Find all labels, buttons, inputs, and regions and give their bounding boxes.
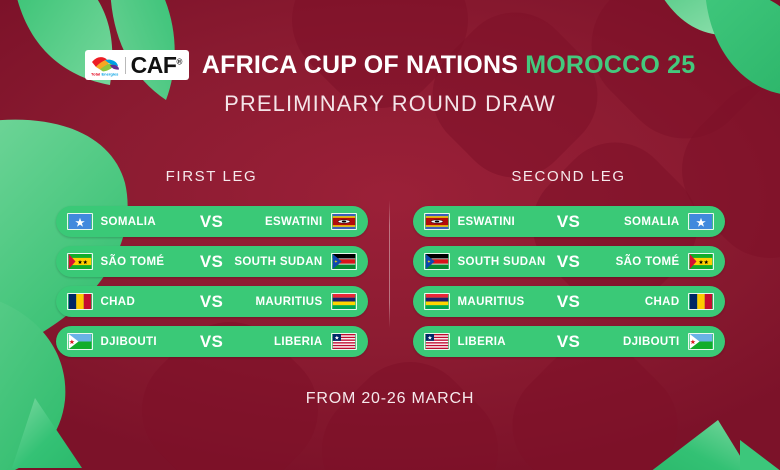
match-row[interactable]: SOUTH SUDAN VS SÃO TOMÉ	[413, 246, 725, 277]
page-subtitle: PRELIMINARY ROUND DRAW	[224, 91, 556, 117]
vs-label: VS	[194, 252, 229, 272]
match-away: MAURITIUS	[229, 293, 356, 310]
match-home: LIBERIA	[424, 333, 551, 350]
match-home: CHAD	[67, 293, 194, 310]
vs-label: VS	[551, 292, 586, 312]
match-away: CHAD	[586, 293, 713, 310]
match-home: SÃO TOMÉ	[67, 253, 194, 270]
match-home: DJIBOUTI	[67, 333, 194, 350]
eswatini-flag	[331, 213, 357, 230]
match-away: SOUTH SUDAN	[229, 253, 356, 270]
caf-text: CAF	[131, 52, 177, 78]
djibouti-flag	[688, 333, 714, 350]
team-name: DJIBOUTI	[101, 336, 157, 348]
match-home: ESWATINI	[424, 213, 551, 230]
somalia-flag	[67, 213, 93, 230]
svg-text:Total: Total	[91, 72, 100, 77]
leg-second: SECOND LEG ESWATINI VS SOMALIA SOUTH SUD…	[413, 168, 725, 366]
match-home: MAURITIUS	[424, 293, 551, 310]
match-row[interactable]: SOMALIA VS ESWATINI	[56, 206, 368, 237]
logo-divider	[125, 57, 126, 74]
page-title: AFRICA CUP OF NATIONS MOROCCO 25	[202, 51, 696, 80]
south-sudan-flag	[331, 253, 357, 270]
vs-label: VS	[194, 332, 229, 352]
match-home: SOMALIA	[67, 213, 194, 230]
chad-flag	[67, 293, 93, 310]
totalenergies-logo-icon: Total Energies	[90, 53, 120, 77]
leg-first: FIRST LEG SOMALIA VS ESWATINI SÃO TOMÉ V…	[56, 168, 368, 366]
match-row[interactable]: ESWATINI VS SOMALIA	[413, 206, 725, 237]
team-name: ESWATINI	[458, 216, 516, 228]
sao-tome-flag	[688, 253, 714, 270]
eswatini-flag	[424, 213, 450, 230]
djibouti-flag	[67, 333, 93, 350]
match-home: SOUTH SUDAN	[424, 253, 551, 270]
registered-mark-icon: ®	[176, 57, 181, 66]
match-row[interactable]: SÃO TOMÉ VS SOUTH SUDAN	[56, 246, 368, 277]
team-name: LIBERIA	[458, 336, 506, 348]
match-away: LIBERIA	[229, 333, 356, 350]
vs-label: VS	[194, 212, 229, 232]
match-away: ESWATINI	[229, 213, 356, 230]
team-name: SOMALIA	[101, 216, 156, 228]
vs-label: VS	[551, 252, 586, 272]
match-row[interactable]: MAURITIUS VS CHAD	[413, 286, 725, 317]
team-name: MAURITIUS	[255, 296, 322, 308]
team-name: SOUTH SUDAN	[458, 256, 546, 268]
vs-label: VS	[194, 292, 229, 312]
team-name: CHAD	[645, 296, 680, 308]
match-away: DJIBOUTI	[586, 333, 713, 350]
match-row[interactable]: LIBERIA VS DJIBOUTI	[413, 326, 725, 357]
vs-label: VS	[551, 332, 586, 352]
team-name: LIBERIA	[274, 336, 322, 348]
mauritius-flag	[331, 293, 357, 310]
team-name: MAURITIUS	[458, 296, 525, 308]
chad-flag	[688, 293, 714, 310]
footer-dates: FROM 20-26 MARCH	[0, 390, 780, 408]
match-away: SOMALIA	[586, 213, 713, 230]
header: Total Energies CAF® AFRICA CUP OF NATION…	[0, 50, 780, 117]
team-name: DJIBOUTI	[623, 336, 679, 348]
team-name: CHAD	[101, 296, 136, 308]
title-row: Total Energies CAF® AFRICA CUP OF NATION…	[85, 50, 696, 80]
match-away: SÃO TOMÉ	[586, 253, 713, 270]
liberia-flag	[424, 333, 450, 350]
somalia-flag	[688, 213, 714, 230]
svg-text:Energies: Energies	[101, 72, 119, 77]
page-title-accent: MOROCCO 25	[525, 51, 695, 79]
mauritius-flag	[424, 293, 450, 310]
team-name: SOMALIA	[624, 216, 679, 228]
match-row[interactable]: CHAD VS MAURITIUS	[56, 286, 368, 317]
team-name: SÃO TOMÉ	[616, 256, 680, 268]
liberia-flag	[331, 333, 357, 350]
sao-tome-flag	[67, 253, 93, 270]
caf-wordmark: CAF®	[131, 54, 182, 77]
decor-triangle-bottom-left	[12, 398, 102, 470]
team-name: SOUTH SUDAN	[234, 256, 322, 268]
leg-second-title: SECOND LEG	[413, 168, 725, 185]
legs-container: FIRST LEG SOMALIA VS ESWATINI SÃO TOMÉ V…	[0, 168, 780, 366]
page-title-main: AFRICA CUP OF NATIONS	[202, 51, 518, 79]
vs-label: VS	[551, 212, 586, 232]
south-sudan-flag	[424, 253, 450, 270]
leg-first-title: FIRST LEG	[56, 168, 368, 185]
match-row[interactable]: DJIBOUTI VS LIBERIA	[56, 326, 368, 357]
decor-triangle-bottom-right-outer	[740, 440, 780, 470]
team-name: SÃO TOMÉ	[101, 256, 165, 268]
caf-logo: Total Energies CAF®	[85, 50, 189, 80]
team-name: ESWATINI	[265, 216, 323, 228]
